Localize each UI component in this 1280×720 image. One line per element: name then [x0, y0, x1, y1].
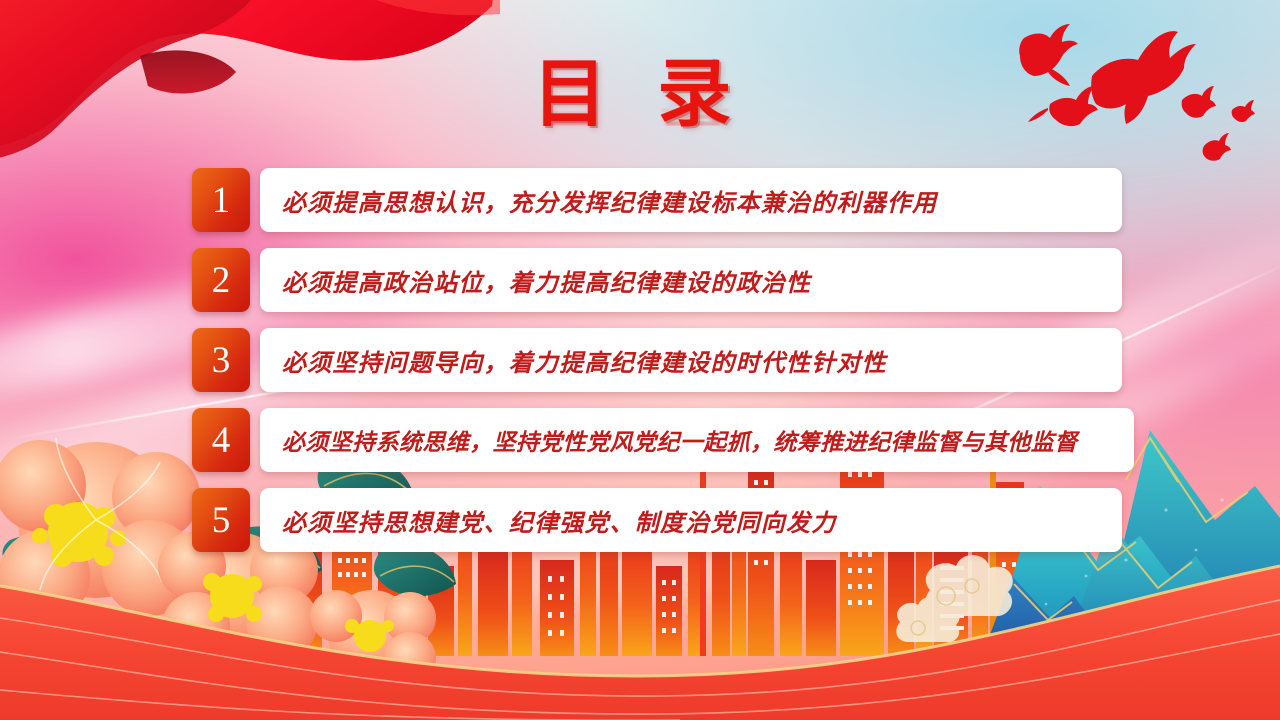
toc-item-label-2: 必须提高政治站位，着力提高纪律建设的政治性 [282, 263, 811, 298]
page-title-reflection: 目 录 [0, 85, 1280, 126]
presentation-slide: 目 录 目 录 1 必须提高思想认识，充分发挥纪律建设标本兼治的利器作用 2 必… [0, 0, 1280, 720]
toc-item-4[interactable]: 4 必须坚持系统思维，坚持党性党风党纪一起抓，统筹推进纪律监督与其他监督 [192, 408, 1122, 472]
toc-item-2[interactable]: 2 必须提高政治站位，着力提高纪律建设的政治性 [192, 248, 1122, 312]
toc-bar-5[interactable]: 必须坚持思想建党、纪律强党、制度治党同向发力 [260, 488, 1122, 552]
toc-bar-3[interactable]: 必须坚持问题导向，着力提高纪律建设的时代性针对性 [260, 328, 1122, 392]
toc-item-5[interactable]: 5 必须坚持思想建党、纪律强党、制度治党同向发力 [192, 488, 1122, 552]
toc-number-badge-2: 2 [192, 248, 250, 312]
toc-number-badge-1: 1 [192, 168, 250, 232]
toc-item-3[interactable]: 3 必须坚持问题导向，着力提高纪律建设的时代性针对性 [192, 328, 1122, 392]
toc-number-badge-3: 3 [192, 328, 250, 392]
toc-item-label-5: 必须坚持思想建党、纪律强党、制度治党同向发力 [282, 503, 836, 538]
toc-number-badge-5: 5 [192, 488, 250, 552]
toc-item-1[interactable]: 1 必须提高思想认识，充分发挥纪律建设标本兼治的利器作用 [192, 168, 1122, 232]
toc-bar-2[interactable]: 必须提高政治站位，着力提高纪律建设的政治性 [260, 248, 1122, 312]
toc-item-label-3: 必须坚持问题导向，着力提高纪律建设的时代性针对性 [282, 343, 887, 378]
toc-bar-4[interactable]: 必须坚持系统思维，坚持党性党风党纪一起抓，统筹推进纪律监督与其他监督 [260, 408, 1134, 472]
toc-number-badge-4: 4 [192, 408, 250, 472]
toc-bar-1[interactable]: 必须提高思想认识，充分发挥纪律建设标本兼治的利器作用 [260, 168, 1122, 232]
table-of-contents-list: 1 必须提高思想认识，充分发挥纪律建设标本兼治的利器作用 2 必须提高政治站位，… [192, 168, 1122, 552]
toc-item-label-4: 必须坚持系统思维，坚持党性党风党纪一起抓，统筹推进纪律监督与其他监督 [282, 423, 1078, 457]
toc-item-label-1: 必须提高思想认识，充分发挥纪律建设标本兼治的利器作用 [282, 183, 937, 218]
